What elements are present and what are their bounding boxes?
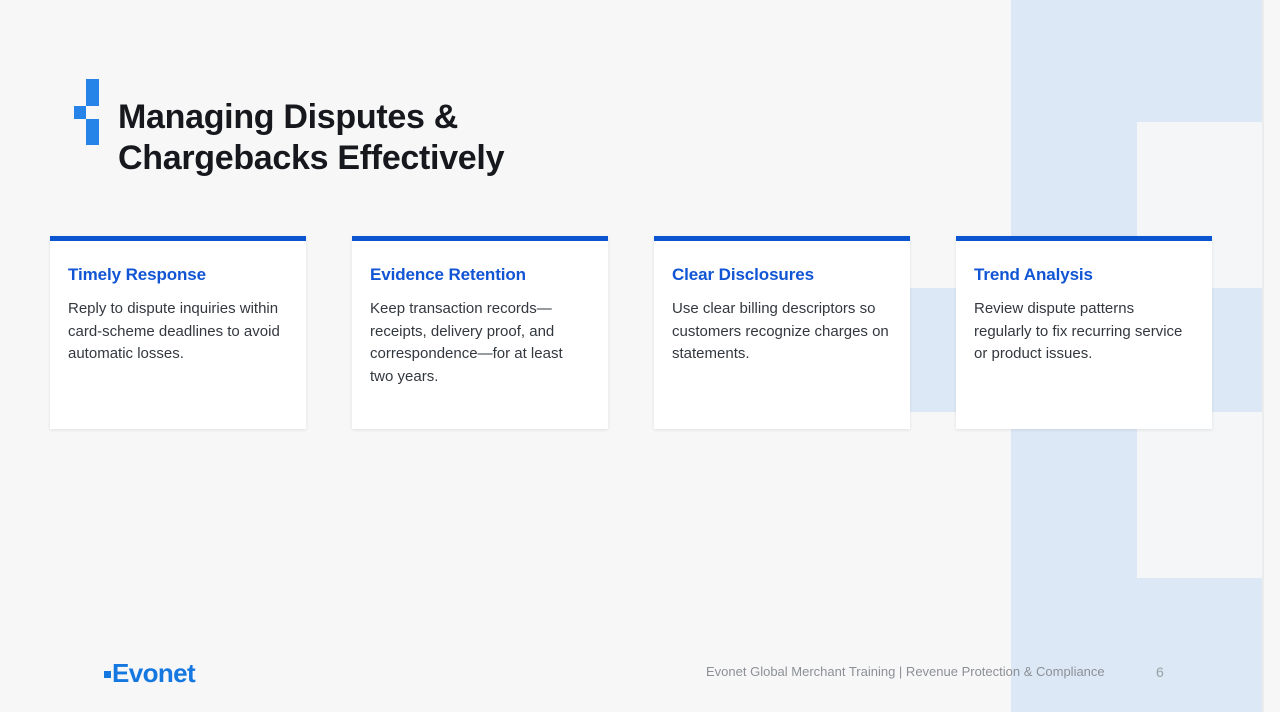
slide-title-row: Managing Disputes & Chargebacks Effectiv…: [74, 74, 504, 202]
brand-mark-icon: [74, 79, 104, 145]
footer-note: Evonet Global Merchant Training | Revenu…: [706, 664, 1105, 680]
card-title: Timely Response: [68, 264, 288, 286]
card-accent-bar: [654, 236, 910, 241]
logo-tick-icon: [104, 671, 111, 678]
card-timely-response: Timely Response Reply to dispute inquiri…: [50, 236, 306, 429]
page-title-line-2: Chargebacks Effectively: [118, 138, 504, 179]
card-body: Reply to dispute inquiries within card-s…: [68, 298, 288, 366]
card-list: Timely Response Reply to dispute inquiri…: [50, 236, 1212, 429]
slide: Managing Disputes & Chargebacks Effectiv…: [0, 0, 1280, 712]
decorative-right-edge: [1262, 0, 1280, 712]
page-number: 6: [1156, 664, 1164, 680]
card-evidence-retention: Evidence Retention Keep transaction reco…: [352, 236, 608, 429]
card-title: Trend Analysis: [974, 264, 1194, 286]
card-body: Keep transaction records—receipts, deliv…: [370, 298, 590, 388]
evonet-logo: Evonet: [104, 658, 195, 688]
brand-mark-bar-bottom: [86, 119, 99, 145]
card-title: Evidence Retention: [370, 264, 590, 286]
brand-mark-square-left: [74, 106, 86, 119]
card-accent-bar: [352, 236, 608, 241]
brand-mark-bar-top: [86, 79, 99, 106]
page-title: Managing Disputes & Chargebacks Effectiv…: [118, 97, 504, 179]
logo-wordmark: Evonet: [112, 658, 195, 688]
card-body: Review dispute patterns regularly to fix…: [974, 298, 1194, 366]
card-accent-bar: [956, 236, 1212, 241]
card-trend-analysis: Trend Analysis Review dispute patterns r…: [956, 236, 1212, 429]
card-body: Use clear billing descriptors so custome…: [672, 298, 892, 366]
card-title: Clear Disclosures: [672, 264, 892, 286]
card-clear-disclosures: Clear Disclosures Use clear billing desc…: [654, 236, 910, 429]
card-accent-bar: [50, 236, 306, 241]
page-title-line-1: Managing Disputes &: [118, 97, 504, 138]
